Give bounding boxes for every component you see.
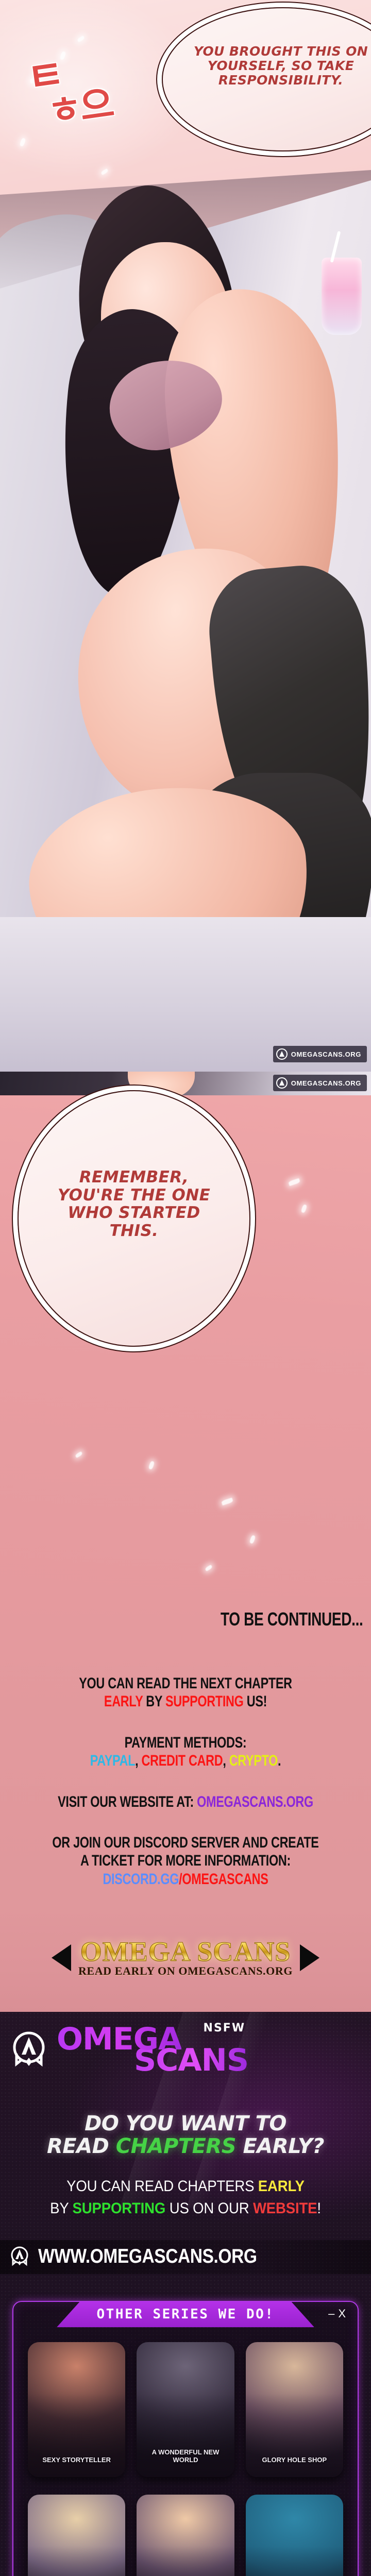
promo-text-block: TO BE CONTINUED... YOU CAN READ THE NEXT…: [0, 1597, 371, 1904]
discord-line-1: OR JOIN OUR DISCORD SERVER AND CREATE: [41, 1834, 330, 1852]
early-word: EARLY: [104, 1693, 143, 1710]
website-url-text: WWW.OMEGASCANS.ORG: [38, 2245, 257, 2268]
next-chapter-line-1: YOU CAN READ THE NEXT CHAPTER: [41, 1674, 330, 1692]
sparkle-icon: [148, 1461, 155, 1470]
promo-question-line-1: DO YOU WANT TO: [0, 2112, 371, 2136]
speech-bubble-2-text: REMEMBER, YOU'RE THE ONE WHO STARTED THI…: [19, 1168, 249, 1240]
drink-cup: [322, 258, 362, 335]
early-word: EARLY?: [243, 2134, 324, 2158]
chapters-word: CHAPTERS: [116, 2134, 236, 2158]
speech-bubble-1-text: YOU BROUGHT THIS ON YOURSELF, SO TAKE RE…: [163, 44, 371, 88]
sparkle-icon: [77, 36, 85, 42]
sparkle-icon: [205, 1565, 213, 1571]
us-word: US!: [247, 1693, 267, 1710]
paypal-label: PAYPAL: [90, 1752, 135, 1769]
supporting-highlight: SUPPORTING: [73, 2200, 166, 2217]
watermark-text: OMEGASCANS.ORG: [291, 1079, 361, 1087]
omegascans-logo-icon: [9, 2030, 48, 2070]
series-thumbnail-fade: [137, 2394, 234, 2477]
series-thumbnail-fade: [28, 2394, 125, 2477]
website-highlight: WEBSITE: [253, 2200, 317, 2217]
sparkle-icon: [221, 1498, 233, 1505]
gold-banner-title: OMEGA SCANS: [78, 1938, 293, 1965]
series-title: SEXY STORYTELLER: [31, 2456, 122, 2464]
exclamation: !: [317, 2200, 321, 2217]
supporting-word: SUPPORTING: [165, 1693, 244, 1710]
speech-bubble-1: YOU BROUGHT THIS ON YOURSELF, SO TAKE RE…: [162, 7, 371, 151]
series-thumbnail-fade: [246, 2546, 343, 2576]
watermark: OMEGASCANS.ORG: [273, 1046, 367, 1062]
promo-subtext: YOU CAN READ CHAPTERS EARLY BY SUPPORTIN…: [15, 2176, 356, 2219]
logo-nsfw-badge: NSFW: [204, 2023, 246, 2033]
visit-label: VISIT OUR WEBSITE AT:: [58, 1793, 194, 1810]
sparkle-icon: [301, 1204, 308, 1213]
series-card[interactable]: GLORY HOLE SHOP: [246, 2342, 343, 2477]
omegascans-logo-icon: [9, 2246, 30, 2267]
website-url-link[interactable]: OMEGASCANS.ORG: [197, 1793, 313, 1810]
next-chapter-line-2: EARLY BY SUPPORTING US!: [41, 1692, 330, 1710]
series-thumbnail-fade: [137, 2546, 234, 2576]
crypto-label: CRYPTO: [229, 1752, 278, 1769]
series-title: GLORY HOLE SHOP: [249, 2456, 340, 2464]
by-word: BY: [146, 1693, 162, 1710]
sparkle-icon: [20, 138, 26, 147]
series-title: A WONDERFUL NEW WORLD: [140, 2448, 231, 2464]
series-thumbnail-fade: [246, 2394, 343, 2477]
sparkle-icon: [249, 1535, 256, 1544]
payment-methods-values: PAYPAL, CREDIT CARD, CRYPTO.: [41, 1752, 330, 1770]
series-card[interactable]: A WONDERFUL NEW WORLD: [137, 2342, 234, 2477]
speech-bubble-2: REMEMBER, YOU'RE THE ONE WHO STARTED THI…: [18, 1090, 250, 1347]
omegascans-logo-icon: [276, 1048, 288, 1060]
website-url-bar[interactable]: WWW.OMEGASCANS.ORG: [0, 2240, 371, 2274]
visit-website-line: VISIT OUR WEBSITE AT: OMEGASCANS.ORG: [41, 1793, 330, 1811]
series-grid: SEXY STORYTELLERA WONDERFUL NEW WORLDGLO…: [13, 2302, 358, 2576]
subtext-a: YOU CAN READ CHAPTERS: [66, 2178, 254, 2195]
series-thumbnail-fade: [28, 2546, 125, 2576]
watermark-text: OMEGASCANS.ORG: [291, 1050, 361, 1058]
sparkle-icon: [60, 51, 66, 60]
omegascans-logo-icon: [276, 1077, 288, 1089]
right-arrow-icon: [300, 1944, 319, 1971]
us-on-our: US ON OUR: [170, 2200, 249, 2217]
read-word: READ: [47, 2134, 109, 2158]
credit-card-label: CREDIT CARD: [142, 1752, 223, 1769]
series-card[interactable]: SEXY STORYTELLER: [28, 2342, 125, 2477]
comic-panel-top: ㅌ ㅎ으 YOU BROUGHT THIS ON YOURSELF, SO TA…: [0, 0, 371, 1072]
discord-invite-link[interactable]: DISCORD.GG/OMEGASCANS: [41, 1870, 330, 1888]
other-series-panel: OTHER SERIES WE DO! –X SEXY STORYTELLERA…: [12, 2301, 359, 2576]
sparkle-icon: [288, 1178, 300, 1186]
discord-line-2: A TICKET FOR MORE INFORMATION:: [41, 1852, 330, 1870]
omegascans-gold-banner: OMEGA SCANS READ EARLY ON OMEGASCANS.ORG: [0, 1904, 371, 2012]
sparkle-icon: [75, 1451, 83, 1458]
sparkle-icon: [100, 168, 109, 175]
watermark: OMEGASCANS.ORG: [273, 1075, 367, 1091]
to-be-continued-text: TO BE CONTINUED...: [81, 1608, 371, 1630]
logo-scans-text: SCANS: [134, 2046, 248, 2075]
omegascans-nsfw-logo: OMEGA NSFW SCANS: [0, 2012, 371, 2079]
series-card[interactable]: IS THERE NO GODDESS IN MY COLLEGE?: [137, 2495, 234, 2576]
promo-subtext-line-2: BY SUPPORTING US ON OUR WEBSITE!: [15, 2198, 356, 2220]
promo-question-line-2: READ CHAPTERS EARLY?: [0, 2135, 371, 2158]
comic-panel-bottom: OMEGASCANS.ORG REMEMBER, YOU'RE THE ONE …: [0, 1072, 371, 1597]
series-card[interactable]: YOUR GIRLFRIEND WAS AMAZING: [28, 2495, 125, 2576]
promo-question: DO YOU WANT TO READ CHAPTERS EARLY?: [0, 2112, 371, 2159]
payment-methods-label: PAYMENT METHODS:: [41, 1734, 330, 1752]
series-card[interactable]: INTERN HAENYEO: [246, 2495, 343, 2576]
early-highlight: EARLY: [258, 2178, 305, 2195]
discord-path: /OMEGASCANS: [179, 1871, 268, 1888]
sfx-glyph-2: ㅎ으: [44, 73, 115, 135]
promo-subtext-line-1: YOU CAN READ CHAPTERS EARLY: [15, 2176, 356, 2198]
webtoon-page: ㅌ ㅎ으 YOU BROUGHT THIS ON YOURSELF, SO TA…: [0, 0, 371, 2576]
by-word: BY: [50, 2200, 69, 2217]
left-arrow-icon: [52, 1944, 71, 1971]
omegascans-promo-section: OMEGA NSFW SCANS DO YOU WANT TO READ CHA…: [0, 2012, 371, 2576]
discord-host: DISCORD.GG: [103, 1871, 179, 1888]
